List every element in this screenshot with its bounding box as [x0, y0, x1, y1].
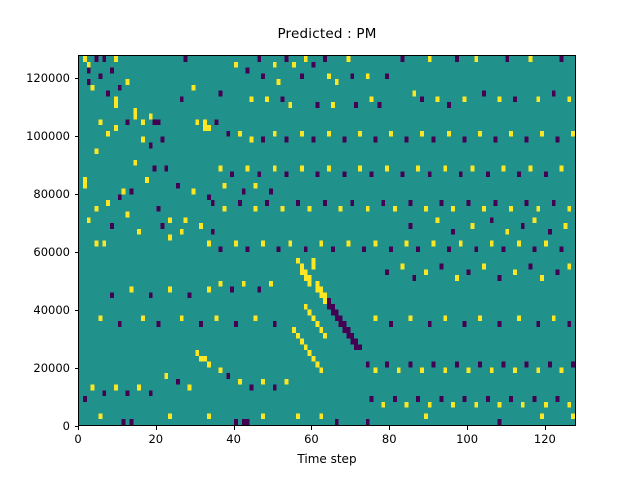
x-tick-label: 20 — [148, 432, 163, 446]
x-tick-mark — [234, 426, 235, 430]
x-tick-mark — [78, 426, 79, 430]
y-tick-mark — [75, 310, 79, 311]
y-tick-mark — [75, 136, 79, 137]
y-tick-mark — [75, 426, 79, 427]
x-tick-label: 0 — [74, 432, 81, 446]
x-tick-label: 120 — [534, 432, 556, 446]
heatmap-canvas — [79, 56, 575, 425]
y-tick-label: 0 — [0, 419, 70, 433]
x-tick-mark — [311, 426, 312, 430]
y-tick-label: 80000 — [0, 187, 70, 201]
y-tick-label: 120000 — [0, 71, 70, 85]
y-tick-mark — [75, 252, 79, 253]
x-tick-mark — [467, 426, 468, 430]
y-tick-label: 100000 — [0, 129, 70, 143]
x-tick-label: 60 — [304, 432, 319, 446]
x-tick-label: 100 — [456, 432, 478, 446]
heatmap-axes — [78, 55, 576, 426]
x-tick-label: 40 — [226, 432, 241, 446]
y-tick-mark — [75, 194, 79, 195]
y-tick-label: 40000 — [0, 303, 70, 317]
y-tick-label: 60000 — [0, 245, 70, 259]
x-axis-label: Time step — [78, 452, 576, 466]
x-tick-mark — [389, 426, 390, 430]
y-tick-mark — [75, 368, 79, 369]
y-tick-mark — [75, 78, 79, 79]
page-title: Predicted : PM — [78, 26, 576, 42]
x-tick-label: 80 — [382, 432, 397, 446]
y-tick-label: 20000 — [0, 361, 70, 375]
x-tick-mark — [545, 426, 546, 430]
x-tick-mark — [156, 426, 157, 430]
matplotlib-figure: Predicted : PM 0204060801001200200004000… — [0, 0, 640, 480]
